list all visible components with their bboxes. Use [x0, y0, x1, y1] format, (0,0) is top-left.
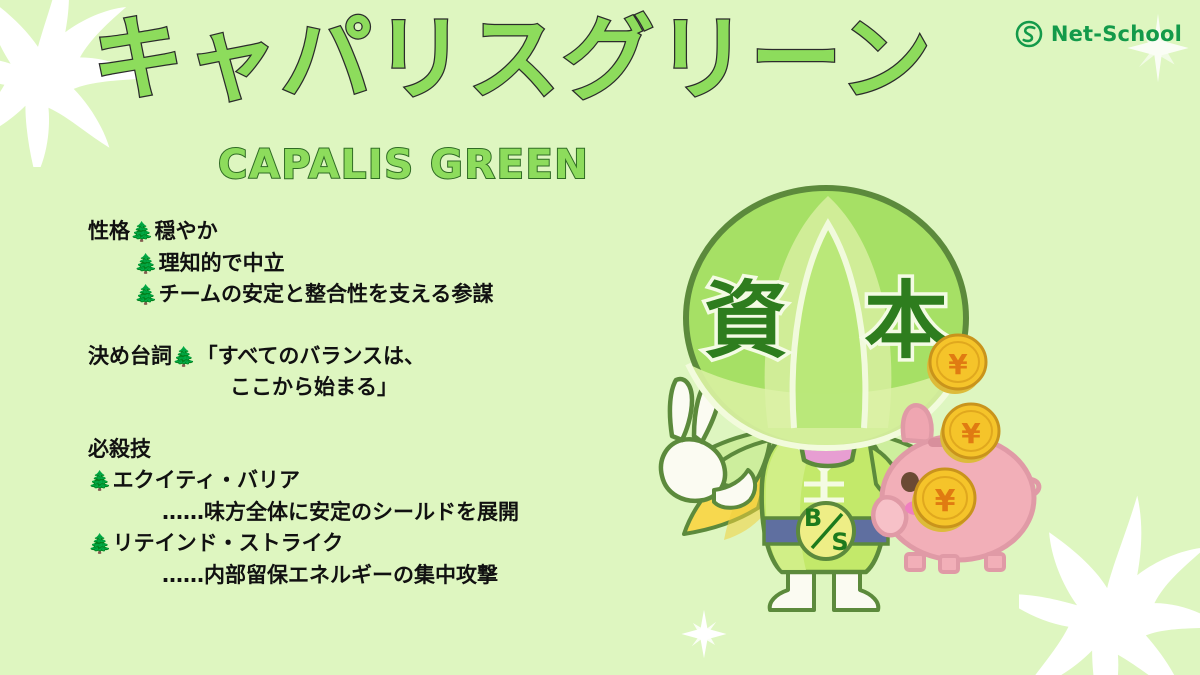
- page-subtitle: CAPALIS GREEN: [218, 142, 589, 188]
- catchphrase-line-1: 決め台詞 🌲 「すべてのバランスは、: [88, 341, 628, 373]
- brand-logo: Net-School: [1014, 19, 1182, 49]
- personality-main-line: 性格 🌲 穏やか: [88, 216, 628, 248]
- special-move-desc: ……内部留保エネルギーの集中攻撃: [88, 560, 628, 592]
- personality-block: 性格 🌲 穏やか 🌲 理知的で中立 🌲 チームの安定と整合性を支える参謀: [88, 216, 628, 311]
- tree-icon: 🌲: [134, 250, 158, 279]
- piggy-leg: [940, 556, 958, 572]
- piggy-leg: [986, 554, 1004, 570]
- head-kanji-shihon-1: 資: [704, 272, 788, 370]
- special-move-name-text: リテインド・ストライク: [113, 528, 344, 560]
- falling-coins: ¥ ¥ ¥: [900, 330, 1020, 550]
- piggy-leg: [906, 554, 924, 570]
- special-moves-label: 必殺技: [88, 434, 628, 466]
- special-move-name-text: エクイティ・バリア: [113, 465, 300, 497]
- personality-bullet-text: チームの安定と整合性を支える参謀: [159, 279, 494, 311]
- yen-coin: ¥: [940, 404, 999, 463]
- tree-icon: 🌲: [134, 281, 158, 310]
- spacer: [88, 404, 628, 434]
- page-title: キャパリスグリーン: [92, 10, 933, 109]
- special-move-desc: ……味方全体に安定のシールドを展開: [88, 497, 628, 529]
- yen-symbol: ¥: [935, 484, 956, 519]
- yen-coin: ¥: [927, 335, 986, 394]
- personality-label: 性格: [88, 216, 130, 248]
- belt-badge-s: S: [831, 528, 848, 556]
- personality-bullet: 🌲 理知的で中立: [88, 248, 628, 280]
- special-move-name: 🌲 エクイティ・バリア: [88, 465, 628, 497]
- tree-icon: 🌲: [130, 218, 154, 247]
- logo-text: Net-School: [1051, 22, 1182, 46]
- catchphrase-label: 決め台詞: [88, 341, 172, 373]
- special-moves-block: 必殺技 🌲 エクイティ・バリア ……味方全体に安定のシールドを展開 🌲 リテイン…: [88, 434, 628, 592]
- personality-value: 穏やか: [155, 216, 218, 248]
- net-school-swirl-icon: [1014, 19, 1044, 49]
- catchphrase-text-1: 「すべてのバランスは、: [197, 341, 425, 373]
- character-info-panel: 性格 🌲 穏やか 🌲 理知的で中立 🌲 チームの安定と整合性を支える参謀 決め台…: [88, 216, 628, 591]
- yen-symbol: ¥: [961, 417, 981, 450]
- yen-coin: ¥: [912, 469, 975, 532]
- catchphrase-text-2: ここから始まる」: [230, 372, 398, 404]
- special-move-name: 🌲 リテインド・ストライク: [88, 528, 628, 560]
- personality-bullet: 🌲 チームの安定と整合性を支える参謀: [88, 279, 628, 311]
- spacer: [88, 311, 628, 341]
- catchphrase-line-2: ここから始まる」: [88, 372, 628, 404]
- tree-icon: 🌲: [172, 343, 196, 372]
- catchphrase-block: 決め台詞 🌲 「すべてのバランスは、 ここから始まる」: [88, 341, 628, 404]
- tree-icon: 🌲: [88, 467, 112, 496]
- belt-badge-b: B: [804, 504, 822, 532]
- personality-bullet-text: 理知的で中立: [159, 248, 285, 280]
- yen-symbol: ¥: [948, 348, 968, 381]
- tree-icon: 🌲: [88, 530, 112, 559]
